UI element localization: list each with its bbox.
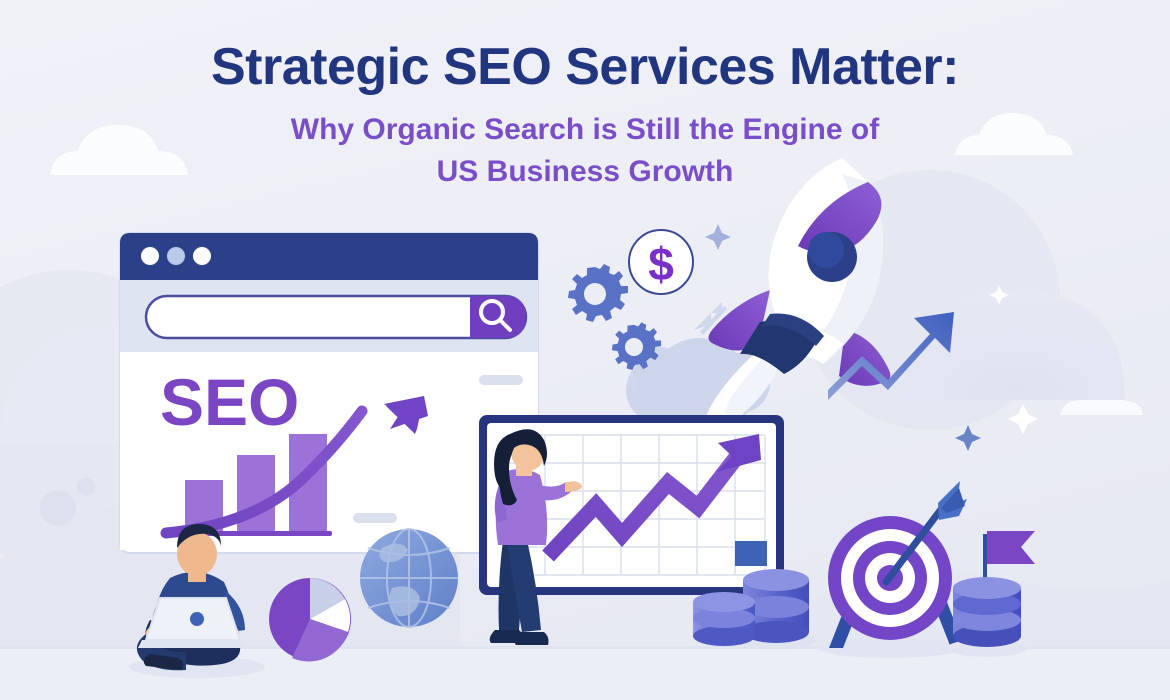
placeholder-pill xyxy=(479,375,523,385)
globe-icon xyxy=(360,529,458,627)
dollar-coin-icon: $ xyxy=(629,230,693,294)
browser-window[interactable]: SEO xyxy=(120,233,538,553)
page-subtitle: Why Organic Search is Still the Engine o… xyxy=(0,109,1170,194)
heading-block: Strategic SEO Services Matter: Why Organ… xyxy=(0,0,1170,194)
placeholder-pill xyxy=(353,513,397,523)
coin-stack-flag-icon xyxy=(947,531,1035,657)
target-bullseye-icon xyxy=(818,481,967,658)
search-input[interactable] xyxy=(146,296,526,338)
window-control-dots[interactable] xyxy=(141,247,211,265)
subtitle-line-1: Why Organic Search is Still the Engine o… xyxy=(0,109,1170,152)
svg-text:$: $ xyxy=(648,238,674,290)
seo-label-text: SEO xyxy=(160,365,299,439)
search-button[interactable] xyxy=(470,296,526,338)
page-title: Strategic SEO Services Matter: xyxy=(0,0,1170,95)
sticky-note xyxy=(735,541,767,566)
subtitle-line-2: US Business Growth xyxy=(0,151,1170,194)
infographic-canvas: Strategic SEO Services Matter: Why Organ… xyxy=(0,0,1170,700)
pie-chart-icon xyxy=(269,578,354,662)
flag-icon xyxy=(987,531,1035,564)
rocket-icon xyxy=(626,158,890,442)
